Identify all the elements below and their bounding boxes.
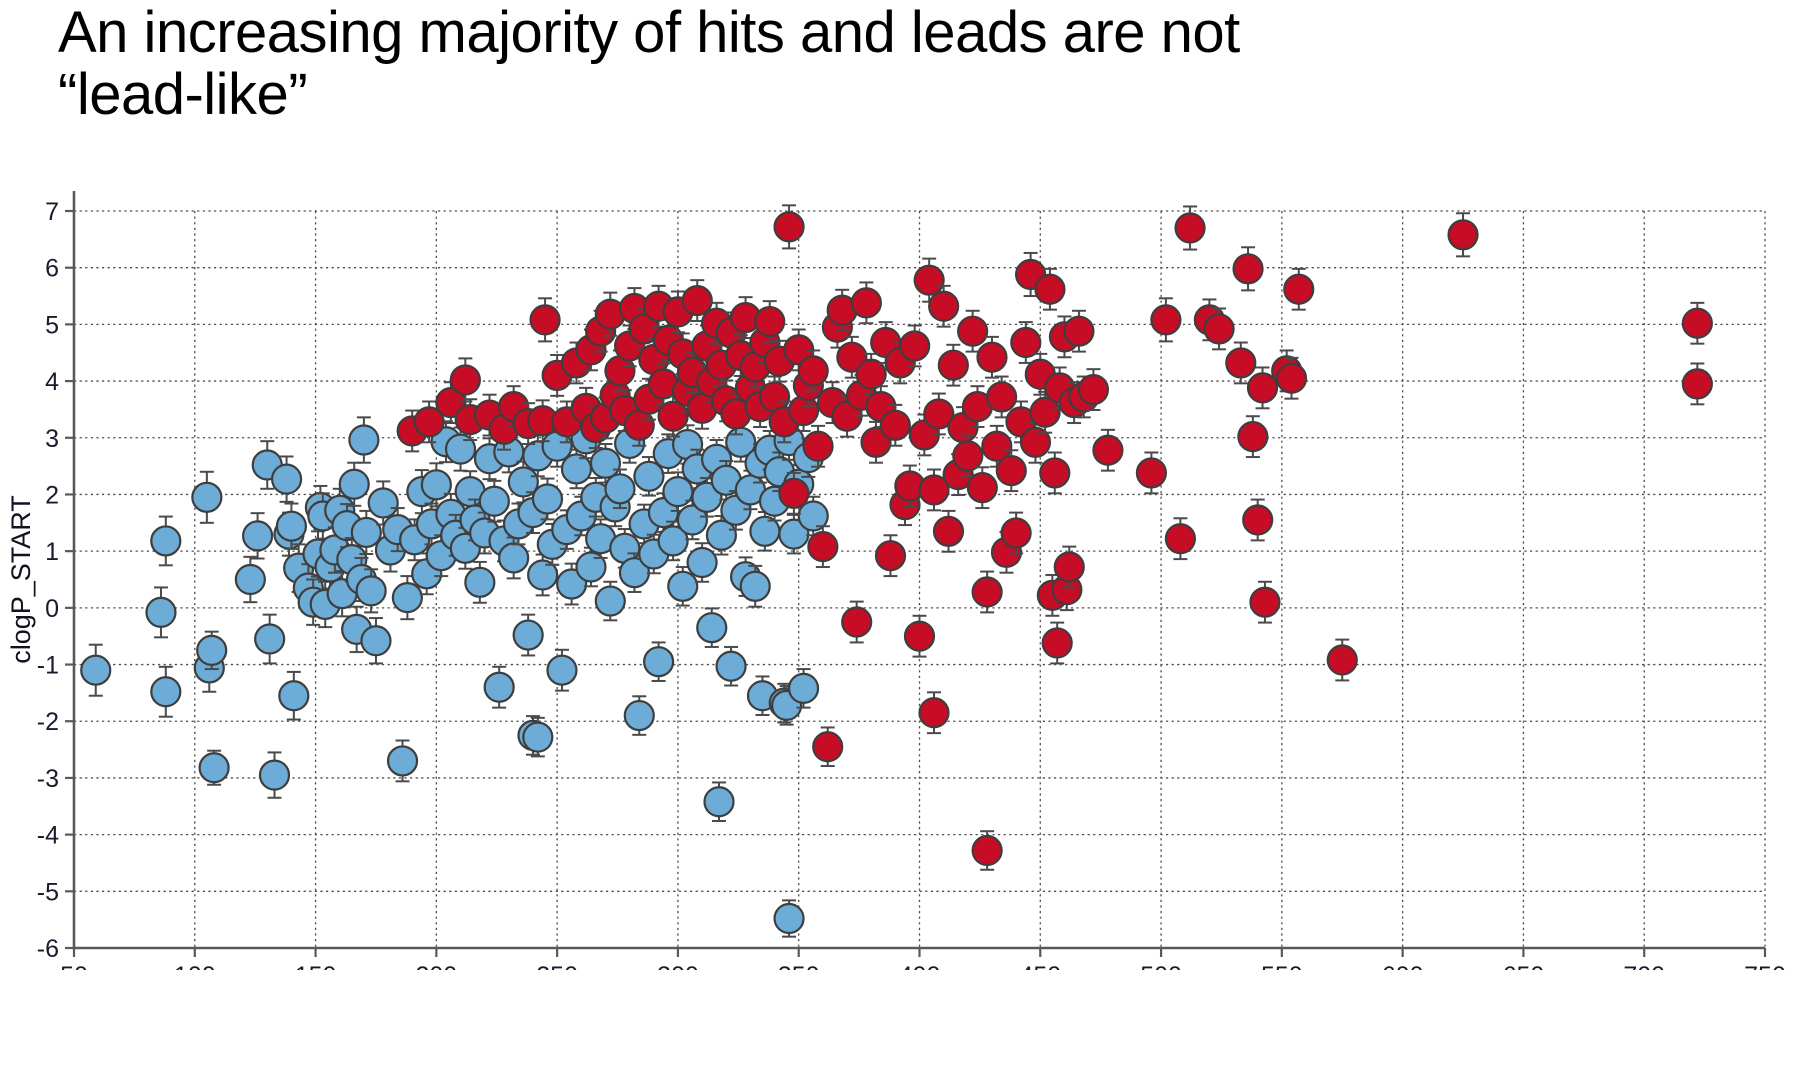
scatter-plot-svg: 5010015020025030035040045050055060065070… — [0, 180, 1798, 970]
data-point-blue — [243, 521, 272, 550]
data-point-blue — [741, 572, 770, 601]
data-point-red-group — [1683, 364, 1712, 405]
data-point-red — [1250, 588, 1279, 617]
y-tick-label: 7 — [45, 198, 59, 226]
data-point-red — [876, 541, 905, 570]
data-point-red — [1449, 220, 1478, 249]
data-point-blue-group — [255, 615, 284, 664]
data-point-blue — [393, 583, 422, 612]
data-point-red — [1226, 348, 1255, 377]
x-tick-label: 200 — [415, 962, 457, 970]
data-point-blue — [697, 613, 726, 642]
data-point-blue-group — [547, 650, 576, 691]
x-tick-label: 600 — [1382, 962, 1424, 970]
data-point-red — [1166, 524, 1195, 553]
data-point-red — [881, 411, 910, 440]
y-tick-label: 0 — [45, 595, 59, 623]
data-point-red — [1064, 317, 1093, 346]
x-tick-label: 450 — [1019, 962, 1061, 970]
data-point-blue-group — [200, 751, 229, 785]
data-point-blue-group — [146, 587, 175, 637]
axis-labels-layer: 5010015020025030035040045050055060065070… — [6, 198, 1786, 970]
y-axis-title: clogP_START — [6, 495, 36, 664]
data-point-blue — [192, 483, 221, 512]
data-point-red — [1284, 275, 1313, 304]
data-point-red-group — [1151, 298, 1180, 341]
x-tick-label: 300 — [657, 962, 699, 970]
data-point-red — [1238, 422, 1267, 451]
data-point-red — [1035, 275, 1064, 304]
x-tick-label: 150 — [295, 962, 337, 970]
data-point-blue — [596, 587, 625, 616]
data-point-red — [934, 517, 963, 546]
data-point-red — [804, 432, 833, 461]
data-point-red-group — [1328, 640, 1357, 681]
data-point-blue — [625, 701, 654, 730]
data-point-red — [958, 317, 987, 346]
data-point-blue — [591, 449, 620, 478]
data-point-blue — [255, 625, 284, 654]
data-point-blue — [465, 568, 494, 597]
data-point-red — [968, 473, 997, 502]
data-point-red-group — [905, 616, 934, 657]
y-tick-label: 1 — [45, 538, 59, 566]
data-point-red — [987, 382, 1016, 411]
data-point-red-group — [1234, 247, 1263, 290]
data-points-layer — [81, 205, 1712, 936]
data-point-red — [1151, 305, 1180, 334]
data-point-blue — [688, 548, 717, 577]
data-point-red — [915, 266, 944, 295]
data-point-blue — [146, 598, 175, 627]
data-point-blue — [523, 723, 552, 752]
data-point-red — [779, 479, 808, 508]
data-point-red — [977, 343, 1006, 372]
y-tick-label: 5 — [45, 311, 59, 339]
data-point-red-group — [1040, 453, 1069, 494]
data-point-blue — [349, 426, 378, 455]
data-point-blue-group — [151, 667, 180, 717]
data-point-red — [1176, 214, 1205, 243]
data-point-blue-group — [236, 557, 265, 602]
data-point-red — [1683, 309, 1712, 338]
data-point-blue — [388, 746, 417, 775]
data-point-red-group — [973, 572, 1002, 613]
data-point-blue — [485, 673, 514, 702]
data-point-blue — [668, 572, 697, 601]
data-point-blue-group — [151, 517, 180, 566]
data-point-red — [1079, 375, 1108, 404]
data-point-blue-group — [81, 645, 110, 696]
y-tick-label: -4 — [37, 822, 59, 850]
y-tick-label: -1 — [37, 652, 59, 680]
data-point-blue-group — [514, 615, 543, 656]
scatter-chart: 5010015020025030035040045050055060065070… — [0, 180, 1798, 970]
data-point-blue — [644, 647, 673, 676]
data-point-blue — [605, 474, 634, 503]
data-point-blue-group — [279, 672, 308, 720]
x-tick-label: 100 — [174, 962, 216, 970]
data-point-blue — [547, 656, 576, 685]
data-point-red-group — [852, 282, 881, 323]
data-point-red-group — [1284, 269, 1313, 310]
y-tick-label: -3 — [37, 765, 59, 793]
data-point-red-group — [934, 511, 963, 552]
data-point-red — [857, 360, 886, 389]
x-tick-label: 500 — [1140, 962, 1182, 970]
data-point-blue-group — [243, 513, 272, 558]
data-point-red — [1137, 458, 1166, 487]
data-point-red — [1234, 254, 1263, 283]
data-point-red-group — [1449, 213, 1478, 256]
data-point-red — [939, 351, 968, 380]
data-point-blue — [352, 518, 381, 547]
data-point-red-group — [876, 535, 905, 576]
data-point-red-group — [939, 345, 968, 386]
data-point-red — [775, 212, 804, 241]
data-point-blue — [422, 470, 451, 499]
data-point-red — [1093, 436, 1122, 465]
data-point-red — [953, 441, 982, 470]
data-point-red — [1011, 328, 1040, 357]
data-point-red — [1002, 519, 1031, 548]
data-point-red — [531, 305, 560, 334]
data-point-red-group — [919, 692, 948, 733]
data-point-red-group — [813, 727, 842, 766]
data-point-red — [997, 456, 1026, 485]
data-point-red-group — [1043, 623, 1072, 664]
x-tick-label: 250 — [536, 962, 578, 970]
page-title: An increasing majority of hits and leads… — [58, 2, 1698, 126]
data-point-red-group — [1093, 430, 1122, 471]
y-tick-label: -5 — [37, 878, 59, 906]
data-point-blue-group — [596, 582, 625, 621]
data-point-blue-group — [192, 472, 221, 523]
data-point-red — [1328, 646, 1357, 675]
x-tick-label: 750 — [1744, 962, 1786, 970]
data-point-blue — [151, 677, 180, 706]
data-point-red-group — [1250, 582, 1279, 623]
data-point-red — [1243, 505, 1272, 534]
data-point-red-group — [1011, 322, 1040, 363]
data-point-red — [451, 365, 480, 394]
data-point-blue-group — [717, 647, 746, 686]
data-point-red-group — [1683, 303, 1712, 344]
data-point-red — [842, 608, 871, 637]
data-point-blue — [151, 526, 180, 555]
slide-root: An increasing majority of hits and leads… — [0, 0, 1798, 1072]
data-point-blue-group — [388, 741, 417, 782]
data-point-red-group — [1166, 518, 1195, 559]
data-point-blue-group — [349, 417, 378, 462]
y-tick-label: -6 — [37, 935, 59, 963]
data-point-red-group — [842, 602, 871, 643]
data-point-red — [1043, 628, 1072, 657]
data-point-red — [1040, 458, 1069, 487]
data-point-blue — [200, 753, 229, 782]
y-tick-label: -2 — [37, 708, 59, 736]
y-tick-label: 2 — [45, 481, 59, 509]
data-point-blue — [499, 543, 528, 572]
data-point-red-group — [1243, 500, 1272, 541]
data-point-red — [1205, 314, 1234, 343]
data-point-blue — [369, 488, 398, 517]
y-tick-label: 4 — [45, 368, 59, 396]
data-point-blue-group — [704, 782, 733, 821]
data-point-blue-group — [644, 642, 673, 681]
data-point-blue — [81, 656, 110, 685]
y-tick-label: 3 — [45, 425, 59, 453]
data-point-red — [799, 356, 828, 385]
data-point-blue-group — [260, 752, 289, 797]
data-point-red — [813, 732, 842, 761]
data-point-blue — [704, 787, 733, 816]
data-point-blue — [357, 576, 386, 605]
data-point-red — [905, 622, 934, 651]
data-point-blue — [361, 626, 390, 655]
data-point-red-group — [531, 298, 560, 341]
data-point-blue — [260, 761, 289, 790]
data-point-red-group — [973, 831, 1002, 870]
data-point-blue — [340, 470, 369, 499]
data-point-red — [1683, 369, 1712, 398]
data-point-blue — [533, 484, 562, 513]
data-point-blue — [236, 565, 265, 594]
x-tick-label: 350 — [778, 962, 820, 970]
x-tick-label: 400 — [899, 962, 941, 970]
x-tick-label: 650 — [1503, 962, 1545, 970]
data-point-blue-group — [625, 696, 654, 735]
data-point-red-group — [1238, 416, 1267, 457]
data-point-red — [1055, 553, 1084, 582]
y-tick-label: 6 — [45, 255, 59, 283]
data-point-red-group — [1226, 343, 1255, 384]
data-point-red — [1277, 364, 1306, 393]
data-point-blue-group — [485, 667, 514, 708]
data-point-red — [973, 836, 1002, 865]
data-point-red-group — [1176, 206, 1205, 249]
data-point-blue — [279, 681, 308, 710]
data-point-red — [973, 577, 1002, 606]
data-point-blue — [480, 487, 509, 516]
data-point-blue — [277, 512, 306, 541]
data-point-red — [852, 288, 881, 317]
data-point-blue-group — [697, 608, 726, 647]
data-point-blue — [789, 674, 818, 703]
x-tick-label: 50 — [60, 962, 88, 970]
data-point-red — [755, 307, 784, 336]
data-point-blue — [272, 465, 301, 494]
data-point-blue — [775, 904, 804, 933]
data-point-red — [900, 331, 929, 360]
x-tick-label: 700 — [1623, 962, 1665, 970]
data-point-blue — [514, 621, 543, 650]
data-point-red — [929, 292, 958, 321]
data-point-blue — [717, 652, 746, 681]
data-point-red — [808, 532, 837, 561]
data-point-blue — [197, 636, 226, 665]
x-tick-label: 550 — [1261, 962, 1303, 970]
data-point-red — [919, 698, 948, 727]
